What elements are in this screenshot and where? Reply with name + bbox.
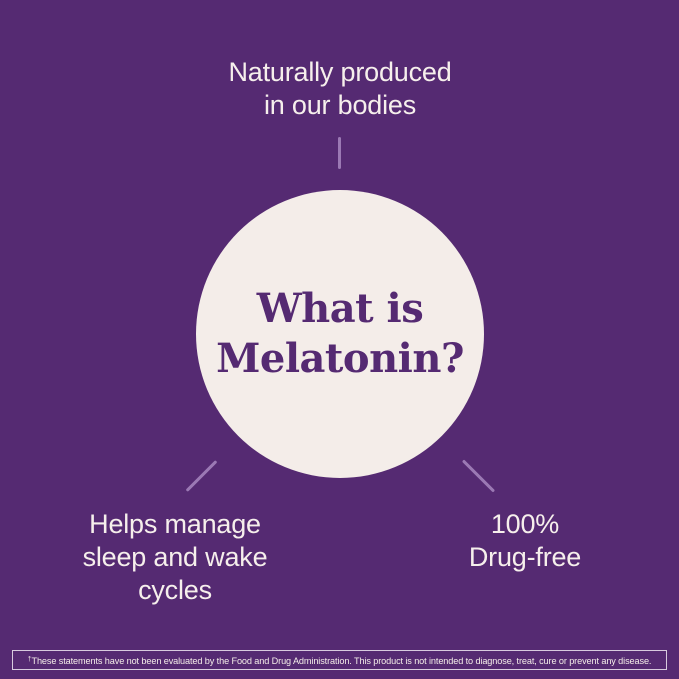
- connector-line-bottom-left: [186, 460, 218, 492]
- connector-line-bottom-right: [462, 459, 495, 492]
- callout-label-top: Naturally produced in our bodies: [140, 56, 540, 122]
- melatonin-infographic: What is Melatonin? Naturally produced in…: [0, 0, 679, 679]
- callout-label-bottom-right: 100% Drug-free: [390, 508, 660, 574]
- center-circle: What is Melatonin?: [196, 190, 484, 478]
- disclaimer-box: †These statements have not been evaluate…: [12, 650, 667, 670]
- disclaimer-text: †These statements have not been evaluate…: [28, 655, 652, 666]
- callout-label-bottom-left: Helps manage sleep and wake cycles: [20, 508, 330, 607]
- disclaimer-body: These statements have not been evaluated…: [31, 656, 651, 666]
- connector-line-top: [338, 137, 341, 169]
- page-title: What is Melatonin?: [202, 284, 478, 384]
